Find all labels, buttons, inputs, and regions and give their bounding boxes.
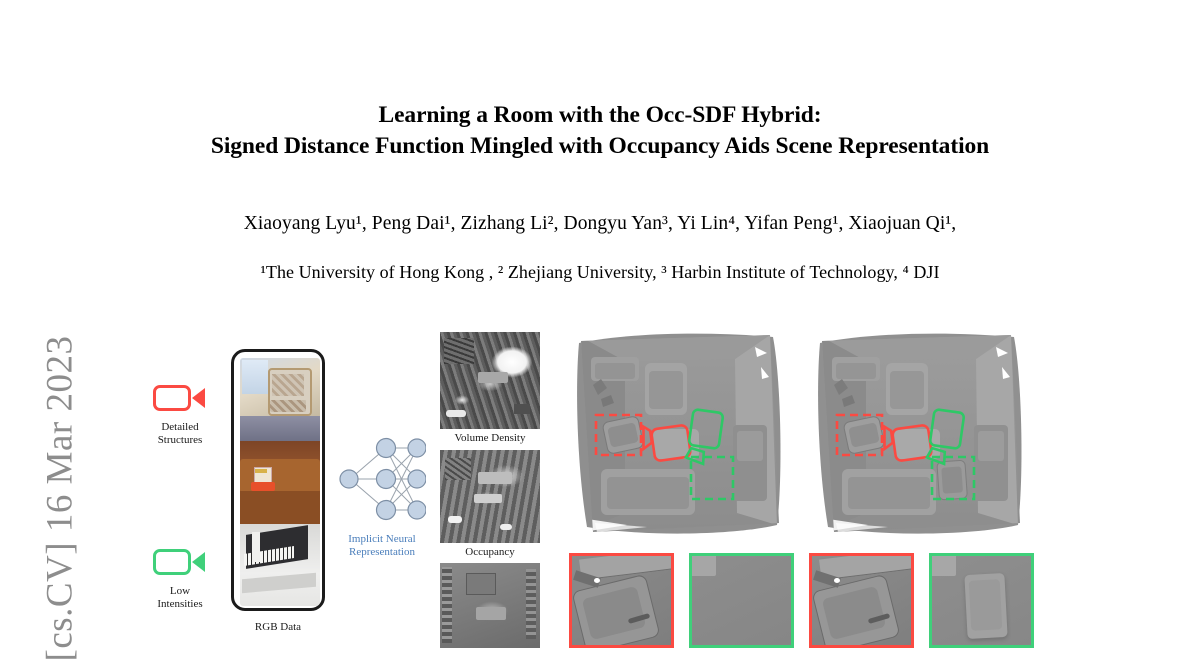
implicit-neural-representation-caption: Implicit Neural Representation [330, 533, 434, 559]
hybrid-panel [440, 563, 540, 648]
ours-room-render [806, 327, 1031, 545]
volume-density-panel [440, 332, 540, 429]
armchair-photo [240, 358, 320, 441]
crop-ours-green [929, 553, 1034, 648]
crop-baseline-green [689, 553, 794, 648]
detailed-structures-camera-icon [153, 385, 207, 411]
low-intensities-label-line-1: Low [140, 585, 220, 598]
detailed-structures-label-line-2: Structures [140, 434, 220, 447]
detailed-structures-label-line-1: Detailed [140, 421, 220, 434]
occupancy-panel [440, 450, 540, 543]
baseline-room-render [565, 327, 790, 545]
volume-density-caption: Volume Density [430, 432, 550, 445]
nn-caption-line-2: Representation [330, 546, 434, 559]
rgb-data-frame [231, 349, 325, 611]
nn-caption-line-1: Implicit Neural [330, 533, 434, 546]
occupancy-caption: Occupancy [430, 546, 550, 559]
low-intensities-label: Low Intensities [140, 585, 220, 611]
rgb-data-caption: RGB Data [228, 621, 328, 634]
sofa-photo [240, 441, 320, 524]
rgb-photo-strip [240, 358, 320, 606]
detailed-structures-label: Detailed Structures [140, 421, 220, 447]
crop-ours-red [809, 553, 914, 648]
crop-baseline-red [569, 553, 674, 648]
low-intensities-camera-icon [153, 549, 207, 575]
low-intensities-label-line-2: Intensities [140, 598, 220, 611]
implicit-neural-network-diagram [338, 437, 426, 522]
piano-photo [240, 524, 320, 606]
teaser-figure: Detailed Structures Low Intensities [0, 0, 1200, 648]
